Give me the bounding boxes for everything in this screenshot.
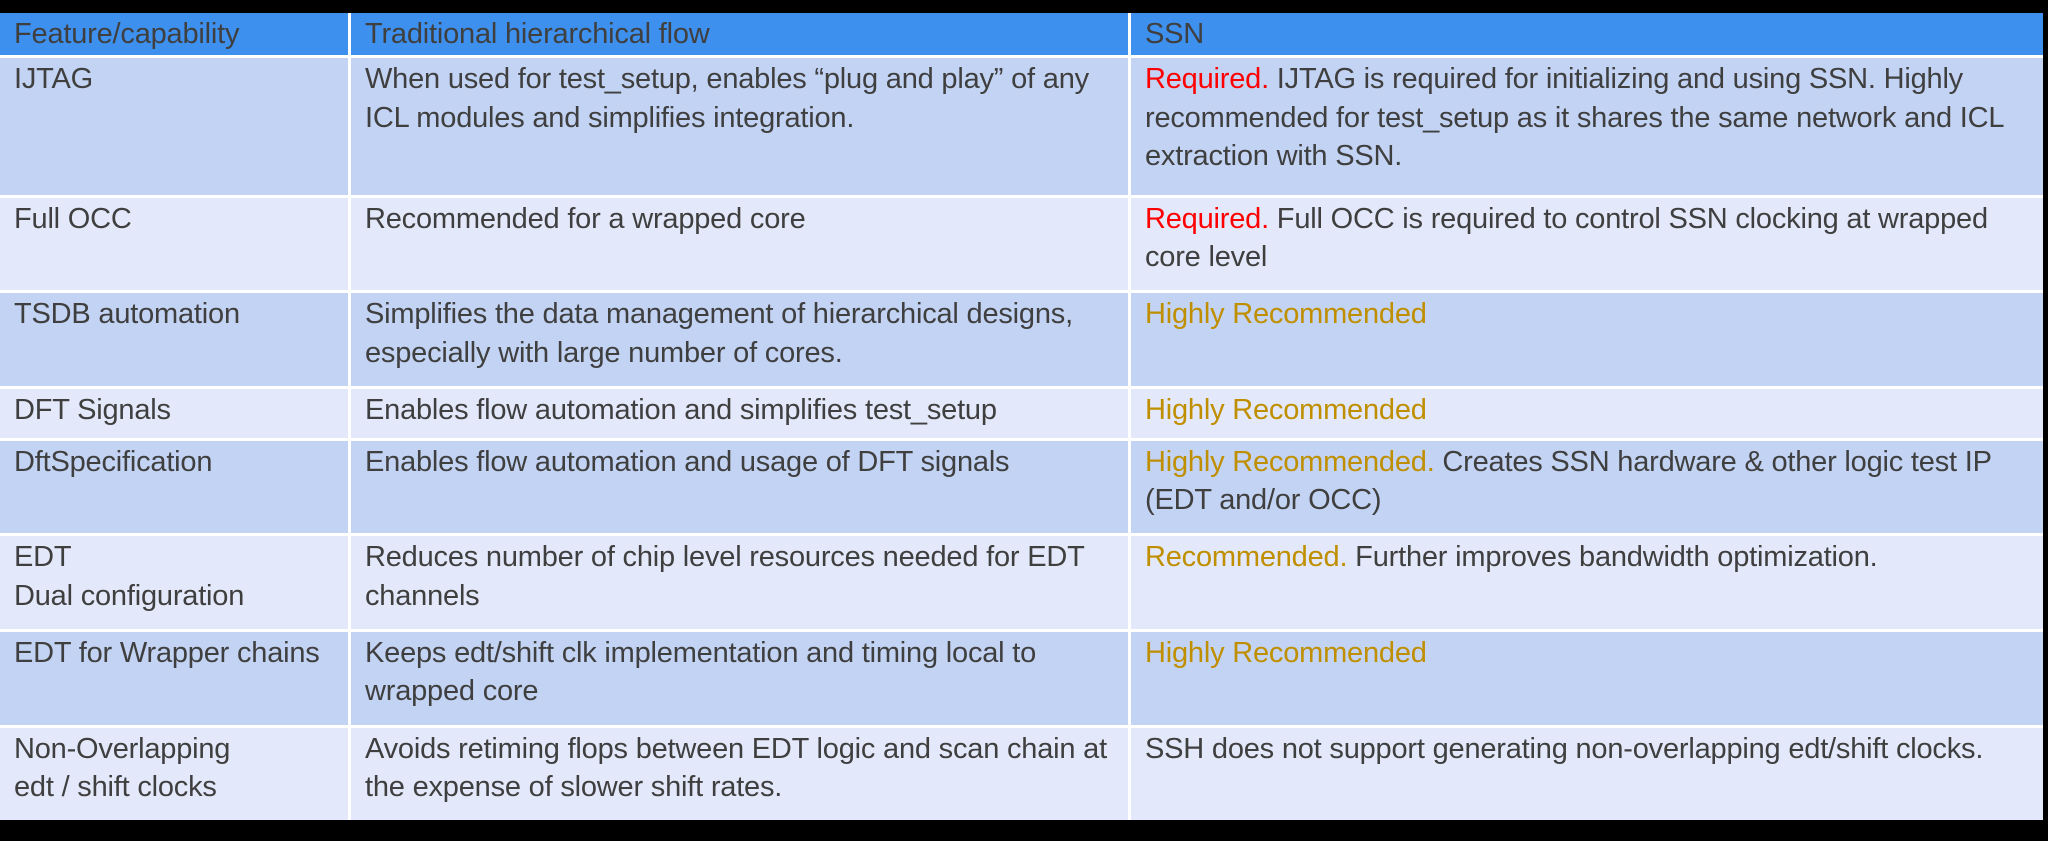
cell-traditional-flow: Enables flow automation and usage of DFT… [351,441,1131,537]
feature-line: EDT for Wrapper chains [14,634,336,672]
column-header-ssn: SSN [1131,13,2043,58]
feature-line: Non-Overlapping [14,730,336,768]
column-header-feature: Feature/capability [0,13,351,58]
table-header-row: Feature/capability Traditional hierarchi… [0,13,2043,58]
comparison-table: Feature/capability Traditional hierarchi… [0,13,2043,820]
cell-traditional-flow: When used for test_setup, enables “plug … [351,58,1131,197]
cell-ssn: SSH does not support generating non-over… [1131,728,2043,820]
ssn-detail-text: SSH does not support generating non-over… [1145,733,1983,765]
ssn-detail-text: Further improves bandwidth optimization. [1347,541,1877,573]
cell-traditional-flow: Recommended for a wrapped core [351,198,1131,294]
feature-line: Dual configuration [14,577,336,615]
cell-ssn: Highly Recommended [1131,632,2043,728]
cell-feature: DFT Signals [0,389,351,441]
table-row: DFT SignalsEnables flow automation and s… [0,389,2043,441]
feature-line: EDT [14,538,336,576]
cell-traditional-flow: Reduces number of chip level resources n… [351,536,1131,632]
feature-line: IJTAG [14,60,336,98]
ssn-status-keyword: Required. [1145,63,1269,95]
cell-ssn: Highly Recommended. Creates SSN hardware… [1131,441,2043,537]
column-header-traditional-flow: Traditional hierarchical flow [351,13,1131,58]
table-row: EDT for Wrapper chainsKeeps edt/shift cl… [0,632,2043,728]
cell-ssn: Highly Recommended [1131,293,2043,389]
cell-traditional-flow: Avoids retiming flops between EDT logic … [351,728,1131,820]
cell-ssn: Highly Recommended [1131,389,2043,441]
ssn-status-keyword: Highly Recommended [1145,298,1427,330]
table-header: Feature/capability Traditional hierarchi… [0,13,2043,58]
cell-feature: IJTAG [0,58,351,197]
ssn-detail-text: Full OCC is required to control SSN cloc… [1145,203,1988,273]
cell-feature: Full OCC [0,198,351,294]
ssn-status-keyword: Highly Recommended [1145,637,1427,669]
cell-traditional-flow: Enables flow automation and simplifies t… [351,389,1131,441]
feature-line: TSDB automation [14,295,336,333]
cell-ssn: Required. Full OCC is required to contro… [1131,198,2043,294]
ssn-detail-text: IJTAG is required for initializing and u… [1145,63,2003,172]
cell-feature: Non-Overlappingedt / shift clocks [0,728,351,820]
cell-feature: DftSpecification [0,441,351,537]
table-body: IJTAGWhen used for test_setup, enables “… [0,58,2043,820]
table-row: DftSpecificationEnables flow automation … [0,441,2043,537]
cell-ssn: Recommended. Further improves bandwidth … [1131,536,2043,632]
table-row: Full OCCRecommended for a wrapped coreRe… [0,198,2043,294]
ssn-status-keyword: Highly Recommended. [1145,446,1435,478]
feature-line: DFT Signals [14,391,336,429]
feature-line: Full OCC [14,200,336,238]
ssn-status-keyword: Required. [1145,203,1269,235]
cell-feature: EDTDual configuration [0,536,351,632]
feature-line: edt / shift clocks [14,768,336,806]
ssn-status-keyword: Highly Recommended [1145,394,1427,426]
slide-canvas: Feature/capability Traditional hierarchi… [0,0,2048,841]
table-row: EDTDual configurationReduces number of c… [0,536,2043,632]
cell-feature: EDT for Wrapper chains [0,632,351,728]
cell-traditional-flow: Keeps edt/shift clk implementation and t… [351,632,1131,728]
cell-traditional-flow: Simplifies the data management of hierar… [351,293,1131,389]
cell-feature: TSDB automation [0,293,351,389]
table-row: TSDB automationSimplifies the data manag… [0,293,2043,389]
cell-ssn: Required. IJTAG is required for initiali… [1131,58,2043,197]
table-row: IJTAGWhen used for test_setup, enables “… [0,58,2043,197]
table-row: Non-Overlappingedt / shift clocksAvoids … [0,728,2043,820]
feature-line: DftSpecification [14,443,336,481]
ssn-status-keyword: Recommended. [1145,541,1347,573]
comparison-table-container: Feature/capability Traditional hierarchi… [0,13,2043,820]
